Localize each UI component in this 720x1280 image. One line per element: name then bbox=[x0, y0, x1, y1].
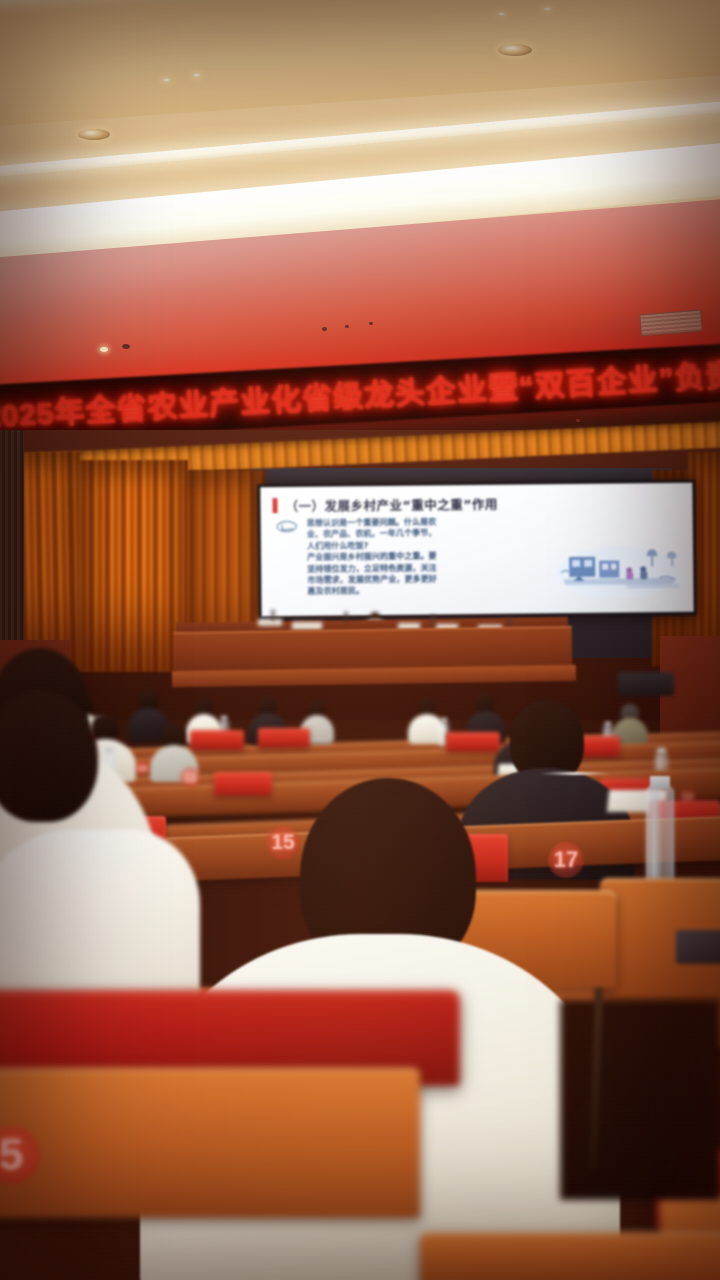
laptop-device bbox=[676, 930, 720, 964]
wall-spotlight bbox=[369, 322, 373, 325]
wall-spotlight bbox=[100, 347, 108, 352]
stage-monitor-speaker bbox=[618, 672, 674, 696]
slide-title-tick-icon bbox=[272, 498, 277, 513]
rural-industry-illustration-icon bbox=[555, 542, 684, 601]
slide-body-text: 思想认识是一个重要问题。什么是农 业、农产品、农机，一年几个季节， 人们用什么吃… bbox=[307, 516, 508, 598]
bottle-cap bbox=[441, 718, 447, 722]
slide-surface: （一）发展乡村产业“重中之重”作用 思想认识是一个重要问题。什么是农 业、农产品… bbox=[260, 483, 693, 617]
ceiling-downlight bbox=[497, 12, 506, 16]
bottle-cap bbox=[650, 776, 670, 789]
ceiling-downlight bbox=[498, 44, 532, 56]
slide-title: （一）发展乡村产业“重中之重”作用 bbox=[285, 494, 498, 515]
ceiling-downlight bbox=[78, 129, 110, 140]
wall-spotlight bbox=[345, 325, 349, 328]
slide-body-line: 惠及农村居民。 bbox=[307, 584, 507, 598]
ceiling-downlight bbox=[162, 78, 171, 82]
projection-screen: （一）发展乡村产业“重中之重”作用 思想认识是一个重要问题。什么是农 业、农产品… bbox=[257, 480, 696, 621]
bottle-cap bbox=[657, 748, 666, 754]
ceiling-downlight bbox=[192, 73, 201, 77]
seat-back bbox=[190, 730, 244, 750]
foreground-seat-wood bbox=[0, 1068, 420, 1218]
wall-spotlight bbox=[122, 344, 130, 349]
ceiling-downlight bbox=[543, 7, 552, 11]
name-placard bbox=[292, 622, 322, 630]
wall-spotlight bbox=[322, 327, 327, 331]
microphone bbox=[345, 614, 347, 623]
name-placard bbox=[258, 619, 282, 626]
foreground-desk-surface bbox=[420, 1232, 720, 1280]
microphone bbox=[272, 612, 274, 621]
bottle-cap bbox=[221, 716, 227, 720]
aisle-shadow bbox=[560, 1000, 720, 1200]
slide-bullet-icon bbox=[277, 521, 297, 532]
stage-curtain-left-mid bbox=[78, 460, 188, 672]
shirt-collar bbox=[538, 772, 612, 775]
seat-back bbox=[258, 728, 310, 748]
seat-number-19: 19 bbox=[678, 788, 697, 807]
slide-title-row: （一）发展乡村产业“重中之重”作用 bbox=[272, 494, 498, 515]
wall-spotlight bbox=[576, 419, 580, 422]
conference-photo: 2025年全省农业产业化省级龙头企业暨“双百企业”负责人培训班 （一）发展乡村产… bbox=[0, 0, 720, 1280]
microphone bbox=[432, 617, 434, 626]
